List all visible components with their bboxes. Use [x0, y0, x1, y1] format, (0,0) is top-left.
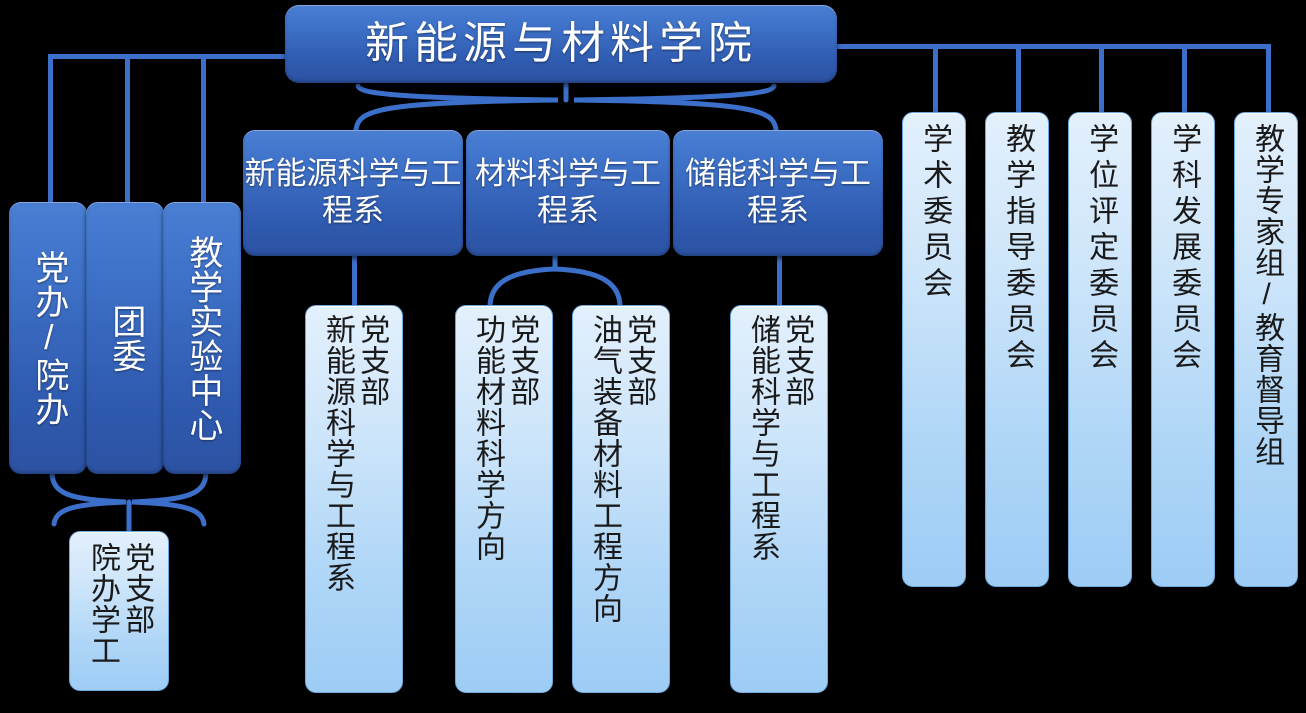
- party-branch-admin-col-right: 院办学工: [85, 542, 119, 666]
- party-branch-functional-materials-col-right: 功能材料科学方向: [470, 314, 504, 562]
- connector-right-drop-1: [933, 44, 938, 114]
- committee-teaching-experts-supervision-label: 教学专家组/教育督导组: [1249, 123, 1283, 467]
- committee-discipline-development-label: 学科发展委员会: [1166, 123, 1200, 375]
- party-branch-new-energy-col-right: 新能源科学与工程系: [320, 314, 354, 593]
- admin-unit-teaching-lab-center[interactable]: 教学实验中心: [163, 202, 241, 474]
- department-materials[interactable]: 材料科学与工程系: [466, 130, 670, 256]
- root-node-college[interactable]: 新能源与材料学院: [285, 5, 837, 83]
- committee-teaching-guidance-label: 教学指导委员会: [1000, 123, 1034, 375]
- party-branch-functional-materials-col-left: 党支部: [504, 314, 538, 407]
- connector-right-drop-4: [1182, 44, 1187, 114]
- connector-left-drop-3: [201, 54, 206, 204]
- committee-degree-evaluation[interactable]: 学位评定委员会: [1068, 112, 1132, 587]
- party-branch-new-energy[interactable]: 新能源科学与工程系 党支部: [305, 305, 403, 693]
- admin-unit-party-office[interactable]: 党办/院办: [9, 202, 87, 474]
- party-branch-oil-gas-equipment-materials-col-right: 油气装备材料工程方向: [587, 314, 621, 624]
- connector-brace-admin: [40, 470, 220, 536]
- committee-academic-label: 学术委员会: [917, 123, 951, 303]
- connector-brace-dept2-branches: [486, 255, 624, 309]
- connector-right-drop-2: [1016, 44, 1021, 114]
- connector-right-drop-3: [1099, 44, 1104, 114]
- committee-degree-evaluation-label: 学位评定委员会: [1083, 123, 1117, 375]
- party-branch-oil-gas-equipment-materials[interactable]: 油气装备材料工程方向 党支部: [572, 305, 670, 693]
- committee-teaching-experts-supervision[interactable]: 教学专家组/教育督导组: [1234, 112, 1298, 587]
- connector-left-drop-1: [48, 54, 53, 204]
- connector-dept3-branch: [777, 255, 782, 307]
- party-branch-functional-materials[interactable]: 功能材料科学方向 党支部: [455, 305, 553, 693]
- connector-left-bus: [48, 54, 296, 59]
- connector-right-bus: [834, 44, 1271, 49]
- party-branch-admin[interactable]: 院办学工 党支部: [69, 531, 169, 691]
- connector-dept1-branch: [352, 255, 357, 307]
- connector-brace-departments: [352, 84, 780, 132]
- committee-discipline-development[interactable]: 学科发展委员会: [1151, 112, 1215, 587]
- party-branch-energy-storage[interactable]: 储能科学与工程系 党支部: [730, 305, 828, 693]
- party-branch-new-energy-col-left: 党支部: [354, 314, 388, 407]
- connector-left-drop-2: [125, 54, 130, 204]
- admin-unit-youth-league[interactable]: 团委: [86, 202, 164, 474]
- committee-academic[interactable]: 学术委员会: [902, 112, 966, 587]
- party-branch-energy-storage-col-right: 储能科学与工程系: [745, 314, 779, 562]
- party-branch-energy-storage-col-left: 党支部: [779, 314, 813, 407]
- department-energy-storage[interactable]: 储能科学与工程系: [673, 130, 883, 256]
- committee-teaching-guidance[interactable]: 教学指导委员会: [985, 112, 1049, 587]
- org-chart-canvas: 新能源与材料学院 党办/院办 团委 教学实验中心 院办学工 党支部 新能源科学与…: [0, 0, 1306, 713]
- connector-right-drop-5: [1266, 44, 1271, 114]
- party-branch-oil-gas-equipment-materials-col-left: 党支部: [621, 314, 655, 407]
- department-new-energy[interactable]: 新能源科学与工程系: [243, 130, 463, 256]
- party-branch-admin-col-left: 党支部: [119, 542, 153, 635]
